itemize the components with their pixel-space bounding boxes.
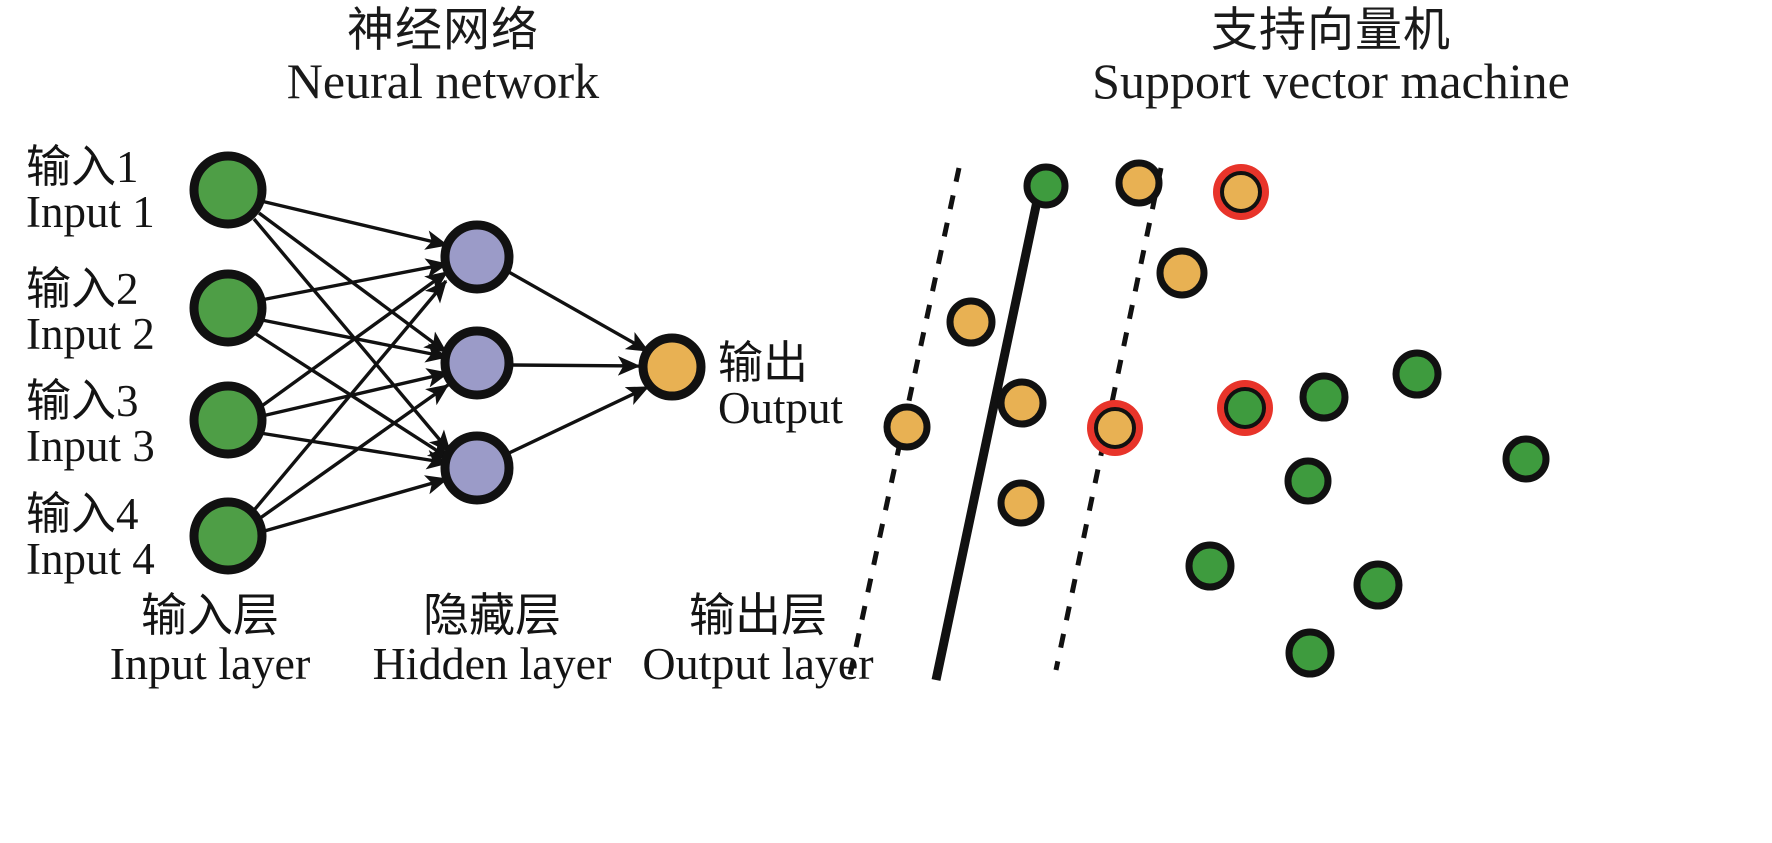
edge-h3-o1 <box>507 387 648 454</box>
neural-network-panel: 神经网络 Neural network <box>0 0 886 843</box>
data-point-orange[interactable] <box>1001 382 1043 424</box>
svm-scatter-plot <box>886 0 1772 843</box>
data-point-orange[interactable] <box>887 407 927 447</box>
hidden-layer-nodes <box>445 225 509 500</box>
data-point-orange <box>1096 409 1134 447</box>
input-label-4-cn: 输入4 <box>26 492 155 537</box>
input-node-3[interactable] <box>194 386 262 454</box>
output-label-cn: 输出 <box>718 341 843 386</box>
edge-i4-h3 <box>261 479 447 532</box>
edges-hidden-to-output <box>507 271 648 454</box>
input-label-3-cn: 输入3 <box>26 379 155 424</box>
support-vector-orange-mid[interactable] <box>1087 400 1143 456</box>
input-label-4: 输入4 Input 4 <box>26 492 155 582</box>
edge-i1-h1 <box>261 201 447 245</box>
data-point-green[interactable] <box>1027 167 1065 205</box>
svm-panel: 支持向量机 Support vector machine <box>886 0 1772 843</box>
input-label-3: 输入3 Input 3 <box>26 379 155 469</box>
data-point-orange[interactable] <box>1160 251 1204 295</box>
layer-label-input-en: Input layer <box>50 640 370 688</box>
layer-label-output-en: Output layer <box>608 640 908 688</box>
input-label-1: 输入1 Input 1 <box>26 145 155 235</box>
input-label-2-en: Input 2 <box>26 312 155 357</box>
input-layer-nodes <box>194 156 262 570</box>
data-point-green[interactable] <box>1303 376 1345 418</box>
data-point-green[interactable] <box>1189 545 1231 587</box>
input-label-3-en: Input 3 <box>26 424 155 469</box>
output-label: 输出 Output <box>718 341 843 431</box>
support-vector-orange-top[interactable] <box>1213 164 1269 220</box>
edge-h2-o1 <box>512 365 639 366</box>
data-point-orange[interactable] <box>1119 163 1159 203</box>
edge-i4-h2 <box>256 385 448 521</box>
input-label-1-cn: 输入1 <box>26 145 155 190</box>
input-node-4[interactable] <box>194 502 262 570</box>
edge-h1-o1 <box>507 271 648 351</box>
output-label-en: Output <box>718 386 843 431</box>
edge-i2-h1 <box>261 264 447 300</box>
edges-input-to-hidden <box>250 201 450 532</box>
hidden-node-3[interactable] <box>445 436 509 500</box>
data-point-green[interactable] <box>1357 564 1399 606</box>
edge-i4-h1 <box>250 281 446 515</box>
layer-label-hidden-en: Hidden layer <box>332 640 652 688</box>
layer-label-hidden: 隐藏层 Hidden layer <box>332 592 652 689</box>
input-label-2: 输入2 Input 2 <box>26 267 155 357</box>
input-node-2[interactable] <box>194 274 262 342</box>
input-label-1-en: Input 1 <box>26 190 155 235</box>
svm-data-points <box>887 163 1546 674</box>
edge-i3-h2 <box>262 373 448 416</box>
data-point-green[interactable] <box>1396 353 1438 395</box>
input-label-4-en: Input 4 <box>26 537 155 582</box>
support-vector-green-mid[interactable] <box>1217 380 1273 436</box>
hidden-node-2[interactable] <box>445 331 509 395</box>
data-point-orange <box>1222 173 1260 211</box>
edge-i1-h3 <box>254 219 450 452</box>
input-node-1[interactable] <box>194 156 262 224</box>
data-point-green[interactable] <box>1288 461 1328 501</box>
data-point-green <box>1226 389 1264 427</box>
output-layer-nodes <box>643 338 701 396</box>
edge-i3-h3 <box>260 433 448 463</box>
data-point-green[interactable] <box>1506 439 1546 479</box>
layer-label-hidden-cn: 隐藏层 <box>332 592 652 640</box>
input-label-2-cn: 输入2 <box>26 267 155 312</box>
edge-i3-h1 <box>259 272 447 408</box>
figure-root: 神经网络 Neural network <box>0 0 1772 843</box>
layer-label-input-cn: 输入层 <box>50 592 370 640</box>
output-node-1[interactable] <box>643 338 701 396</box>
layer-label-input: 输入层 Input layer <box>50 592 370 689</box>
data-point-orange[interactable] <box>1001 483 1041 523</box>
data-point-orange[interactable] <box>950 301 992 343</box>
data-point-green[interactable] <box>1289 632 1331 674</box>
hidden-node-1[interactable] <box>445 225 509 289</box>
